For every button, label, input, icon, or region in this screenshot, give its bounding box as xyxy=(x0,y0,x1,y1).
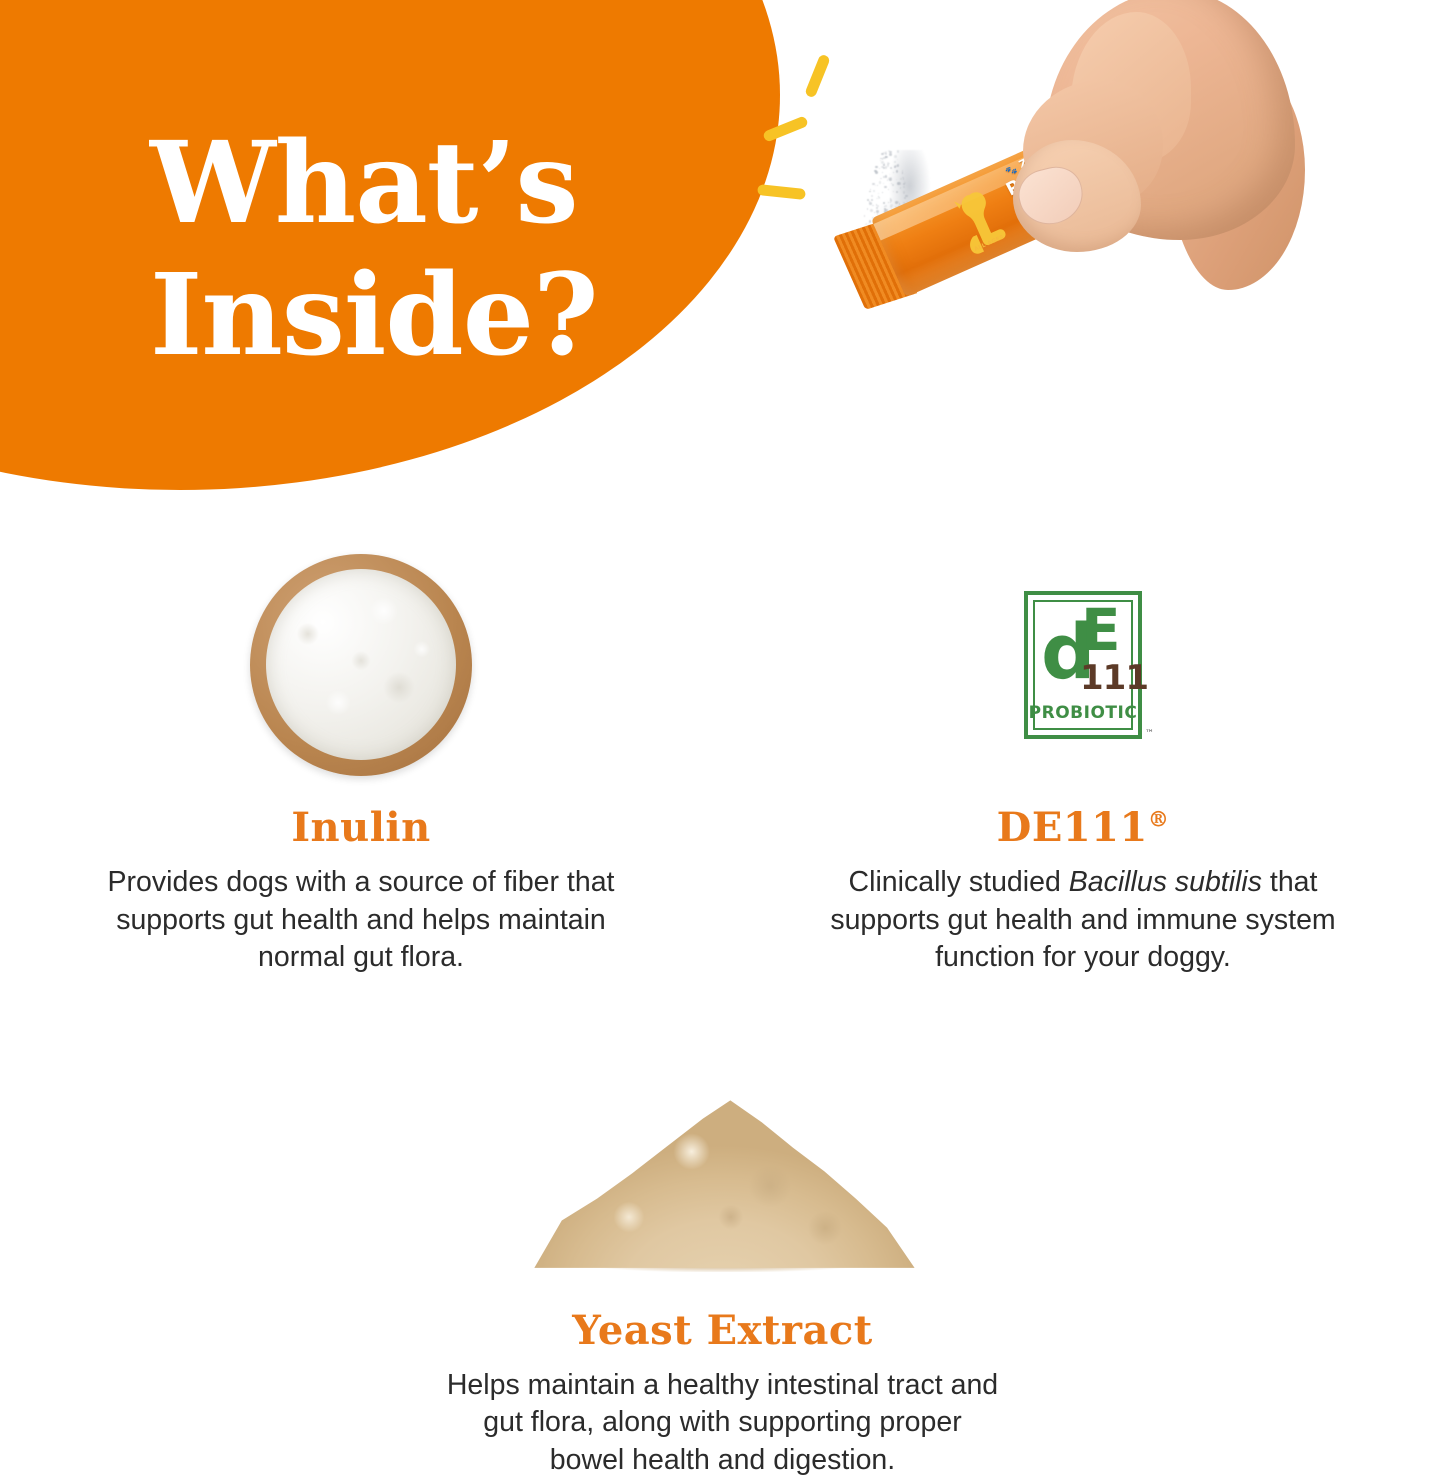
de111-probiotic-word: PROBIOTIC xyxy=(1028,703,1138,723)
powder-grain xyxy=(897,159,898,160)
powder-grain xyxy=(883,202,885,204)
ingredients-row-2: Yeast Extract Helps maintain a healthy i… xyxy=(0,977,1445,1480)
powder-grain xyxy=(903,186,905,188)
page-title-line-1: What’s xyxy=(150,118,578,249)
powder-grain xyxy=(894,166,896,168)
powder-grain xyxy=(877,185,878,186)
powder-grain xyxy=(867,208,868,209)
powder-grain xyxy=(903,178,904,179)
product-packet-scene: ALL AGES 🐾 Zesty Paws Probiotic Powder D… xyxy=(790,0,1350,520)
powder-grain xyxy=(898,182,901,185)
powder-grain xyxy=(885,151,887,153)
powder-grain xyxy=(885,175,887,177)
powder-grain xyxy=(897,164,900,167)
powder-grain xyxy=(900,178,902,180)
powder-grain xyxy=(873,190,875,192)
powder-grain xyxy=(864,215,866,217)
ingredient-copy-de111: Clinically studied Bacillus subtilis tha… xyxy=(813,864,1353,977)
tan-powder-pile-icon xyxy=(527,1068,919,1268)
yeast-extract-visual xyxy=(527,1033,919,1303)
page-title: What’s Inside? xyxy=(150,118,710,382)
sparkle-dash-icon xyxy=(757,184,806,200)
powder-grain xyxy=(882,192,883,193)
powder-grain xyxy=(889,153,891,155)
powder-grain xyxy=(875,166,877,168)
powder-grain xyxy=(893,172,894,173)
powder-grain xyxy=(878,193,879,194)
powder-grain xyxy=(882,172,883,173)
powder-grain xyxy=(876,210,879,213)
powder-grain xyxy=(870,209,873,212)
powder-grain xyxy=(879,181,881,183)
powder-grain xyxy=(904,197,906,199)
powder-grain xyxy=(892,184,894,186)
powder-grain xyxy=(894,161,896,163)
powder-grain xyxy=(871,199,873,201)
powder-grain xyxy=(870,189,871,190)
page-title-line-2: Inside? xyxy=(150,250,710,382)
ingredients-row-1: Inulin Provides dogs with a source of fi… xyxy=(0,520,1445,977)
powder-grain xyxy=(889,174,891,176)
powder-grain xyxy=(889,151,891,153)
powder-grain xyxy=(894,155,897,158)
powder-grain xyxy=(903,191,905,193)
powder-grain xyxy=(876,207,878,209)
powder-grain xyxy=(888,189,889,190)
powder-grain xyxy=(896,170,898,172)
inulin-visual xyxy=(250,530,472,800)
powder-grain xyxy=(883,157,885,159)
powder-grain xyxy=(883,176,884,177)
powder-grain xyxy=(869,191,870,192)
de111-letter-e: E xyxy=(1081,607,1121,655)
powder-grain xyxy=(875,185,876,186)
sparkle-dash-icon xyxy=(804,54,831,99)
powder-grain xyxy=(883,183,885,185)
powder-grain xyxy=(890,199,891,200)
powder-grain xyxy=(897,150,899,152)
wooden-bowl-icon xyxy=(250,554,472,776)
powder-grain xyxy=(893,191,894,192)
ingredient-copy-yeast-extract: Helps maintain a healthy intestinal trac… xyxy=(443,1367,1003,1480)
powder-grain xyxy=(891,168,892,169)
de111-title-text: DE111 xyxy=(997,804,1148,851)
de111-number: 111 xyxy=(1080,661,1148,695)
powder-grain xyxy=(888,202,889,203)
hero-section: What’s Inside? ALL AGES 🐾 xyxy=(0,0,1445,520)
ingredient-card-yeast-extract: Yeast Extract Helps maintain a healthy i… xyxy=(0,977,1445,1480)
de111-logo: d E 111 PROBIOTIC ™ xyxy=(1024,591,1142,739)
powder-grain xyxy=(904,182,906,184)
powder-grain xyxy=(869,201,870,202)
ingredient-copy-inulin: Provides dogs with a source of fiber tha… xyxy=(101,864,621,977)
ingredient-title-inulin: Inulin xyxy=(291,806,430,850)
ingredients-grid: Inulin Provides dogs with a source of fi… xyxy=(0,520,1445,1480)
bowl-white-powder xyxy=(266,569,456,760)
powder-grain xyxy=(881,153,883,155)
hand-holding-packet xyxy=(1005,0,1295,290)
de111-copy-species: Bacillus subtilis xyxy=(1069,866,1262,898)
ingredient-title-yeast-extract: Yeast Extract xyxy=(572,1309,873,1353)
powder-grain xyxy=(880,178,882,180)
powder-grain xyxy=(887,162,889,164)
powder-grain xyxy=(902,172,903,173)
pile-mound xyxy=(527,1086,919,1268)
powder-grain xyxy=(884,208,886,210)
powder-grain xyxy=(872,205,874,207)
powder-grain xyxy=(900,187,902,189)
ingredient-card-de111: d E 111 PROBIOTIC ™ DE111® Clinically st… xyxy=(722,520,1444,977)
powder-grain xyxy=(890,206,892,208)
de111-trademark: ™ xyxy=(1145,729,1154,739)
ingredient-card-inulin: Inulin Provides dogs with a source of fi… xyxy=(0,520,722,977)
powder-grain xyxy=(896,179,897,180)
de111-copy-pre: Clinically studied xyxy=(849,866,1069,898)
powder-grain xyxy=(885,205,887,207)
registered-mark: ® xyxy=(1148,807,1170,832)
powder-grain xyxy=(882,158,883,159)
de111-visual: d E 111 PROBIOTIC ™ xyxy=(1024,530,1142,800)
powder-grain xyxy=(876,204,877,205)
powder-grain xyxy=(871,195,873,197)
powder-grain xyxy=(896,191,898,193)
ingredient-title-de111: DE111® xyxy=(997,806,1170,850)
powder-grain xyxy=(874,212,875,213)
powder-grain xyxy=(884,186,887,189)
powder-grain xyxy=(878,197,880,199)
powder-grain xyxy=(906,185,907,186)
